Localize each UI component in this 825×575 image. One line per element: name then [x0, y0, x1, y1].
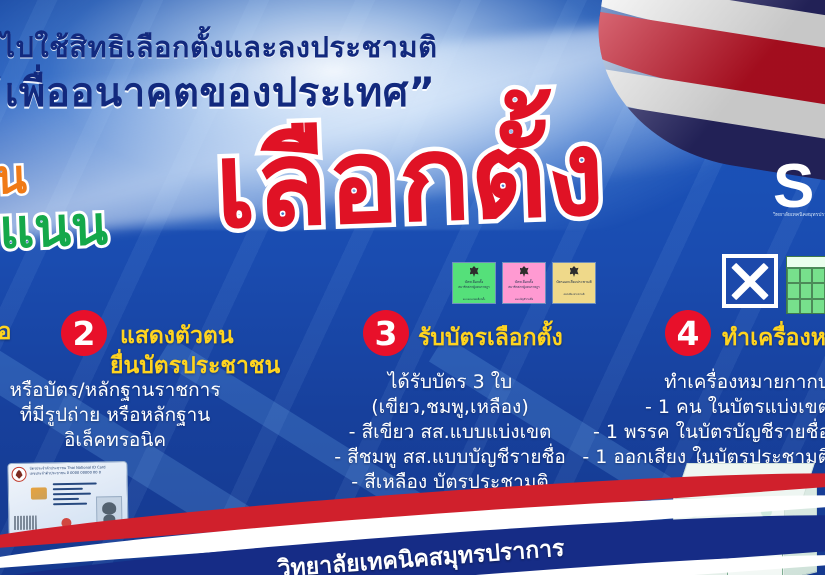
- ballot-card-group: บัตรเลือกตั้ง สมาชิกสภาผู้แทนราษฎร แบบแบ…: [452, 262, 596, 304]
- step-4-body: ทำเครื่องหมายกากบ - 1 คน ในบัตรแบ่งเขต -…: [545, 370, 825, 470]
- step-1-heading: ชื่อ: [0, 314, 11, 350]
- step-4-body-line-2: - 1 คน ในบัตรแบ่งเขต: [545, 395, 825, 420]
- ballot-card-line-2: สมาชิกสภาผู้แทนราษฎร: [458, 285, 489, 290]
- id-card-subtitle: เลขประจำตัวประชาชน 0 0000 00000 00 0: [30, 470, 106, 476]
- garuda-crest-icon: [470, 266, 479, 277]
- step-2-body-line-3: อิเล็คทรอนิค: [0, 428, 260, 453]
- step-2-number: 2: [61, 310, 107, 356]
- ballot-card-green: บัตรเลือกตั้ง สมาชิกสภาผู้แทนราษฎร แบบแบ…: [452, 262, 496, 304]
- logo-letter: S: [773, 162, 825, 212]
- logo-subtitle: วิทยาลัยเทคนิคสมุทรปราการ: [773, 212, 825, 218]
- headline-big-word: เลือกตั้ง: [213, 113, 606, 245]
- ballot-card-line-3: ออกเสียงประชามติ: [564, 293, 585, 297]
- ballot-card-line-3: แบบบัญชีรายชื่อ: [515, 298, 533, 302]
- ballot-card-pink: บัตรเลือกตั้ง สมาชิกสภาผู้แทนราษฎร แบบบั…: [502, 262, 546, 304]
- step-2-body-line-1: หรือบัตร/หลักฐานราชการ: [0, 378, 260, 403]
- election-poster: S วิทยาลัยเทคนิคสมุทรปราการ ือกูไปใช้สิท…: [0, 0, 825, 575]
- ballot-paper-icon: [786, 256, 825, 314]
- ballot-card-yellow: บัตรออกเสียงประชามติ ออกเสียงประชามติ: [552, 262, 596, 304]
- step-3-number: 3: [363, 310, 409, 356]
- id-card-text-lines: [53, 482, 97, 508]
- step-4-number: 4: [665, 310, 711, 356]
- garuda-crest-icon: [520, 266, 529, 277]
- step-4-body-line-3: - 1 พรรค ในบัตรบัญชีรายชื่อ: [545, 420, 825, 445]
- x-mark-icon: [722, 254, 778, 308]
- ballot-card-line-3: แบบแบ่งเขตเลือกตั้ง: [463, 298, 485, 302]
- step-2-body-line-2: ที่มีรูปถ่าย หรือหลักฐาน: [0, 403, 260, 428]
- ballot-card-line-2: สมาชิกสภาผู้แทนราษฎร: [508, 285, 539, 290]
- id-card-chip-icon: [31, 487, 47, 499]
- headline-green-word: คะแนน: [0, 182, 109, 275]
- college-logo: S วิทยาลัยเทคนิคสมุทรปราการ: [773, 162, 825, 232]
- step-4-heading: ทำเครื่องห: [722, 320, 825, 356]
- step-2-body: หรือบัตร/หลักฐานราชการ ที่มีรูปถ่าย หรือ…: [0, 378, 260, 453]
- garuda-seal-icon: [11, 467, 26, 482]
- step-3-heading: รับบัตรเลือกตั้ง: [418, 320, 563, 356]
- garuda-crest-icon: [570, 266, 579, 277]
- step-4-body-line-1: ทำเครื่องหมายกากบ: [545, 370, 825, 395]
- ballot-card-line-1: บัตรออกเสียงประชามติ: [556, 279, 592, 285]
